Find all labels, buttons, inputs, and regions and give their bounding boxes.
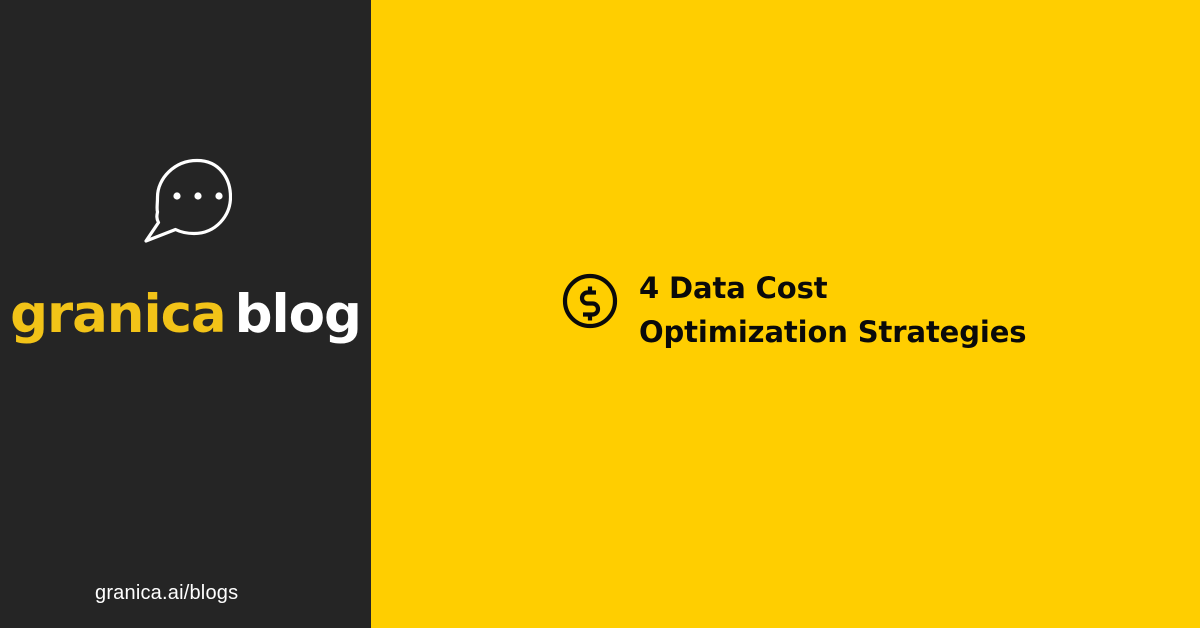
speech-bubble-icon <box>140 152 232 248</box>
wordmark-blog: blog <box>235 284 361 345</box>
brand-panel: granicablog granica.ai/blogs <box>0 0 371 628</box>
post-title: 4 Data Cost Optimization Strategies <box>639 266 1039 354</box>
brand-wordmark: granicablog <box>10 288 361 341</box>
blog-share-card: granicablog granica.ai/blogs 4 Data Cost… <box>0 0 1200 628</box>
content-panel: 4 Data Cost Optimization Strategies <box>371 0 1200 628</box>
post-headline-block: 4 Data Cost Optimization Strategies <box>561 266 1140 354</box>
brand-url[interactable]: granica.ai/blogs <box>95 581 238 605</box>
dollar-coin-icon <box>561 266 619 330</box>
wordmark-granica: granica <box>10 284 226 345</box>
brand-lockup: granicablog <box>0 152 371 341</box>
